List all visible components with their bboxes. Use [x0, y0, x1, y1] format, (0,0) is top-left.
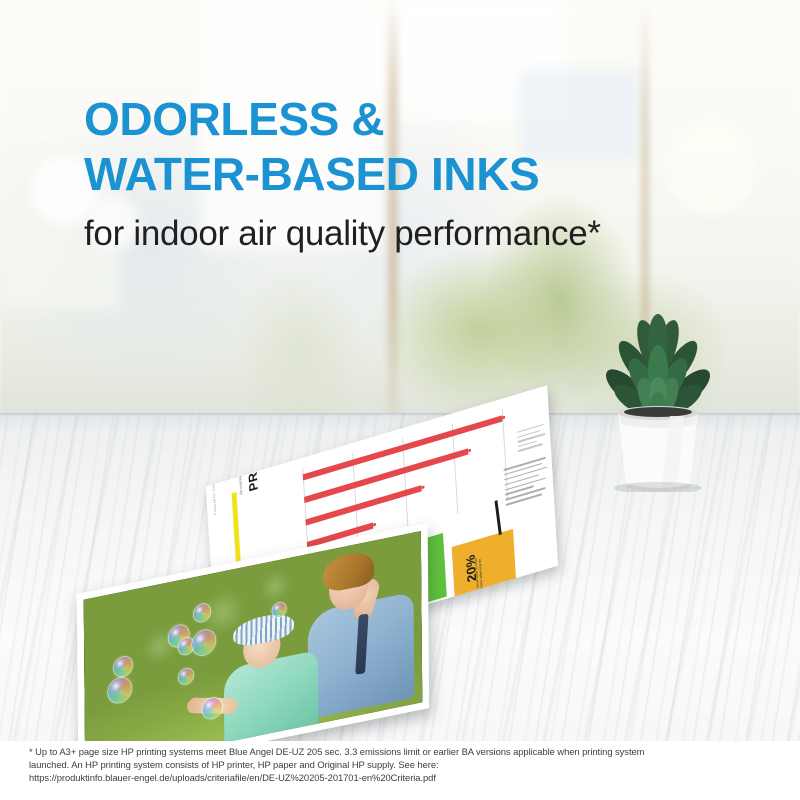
headline-block: ODORLESS & WATER-BASED INKS	[84, 92, 744, 202]
headline-line-2: WATER-BASED INKS	[84, 147, 744, 202]
plant-pot	[618, 406, 698, 492]
brochure-rule	[495, 500, 502, 535]
footnote-line-3: https://produktinfo.blauer-engel.de/uplo…	[29, 771, 781, 784]
subheadline: for indoor air quality performance*	[84, 212, 601, 256]
footnote-line-1: * Up to A3+ page size HP printing system…	[29, 745, 781, 758]
headline-line-1: ODORLESS &	[84, 92, 744, 147]
potted-succulent-plant	[596, 312, 720, 492]
footnote-text: * Up to A3+ page size HP printing system…	[29, 745, 781, 785]
marketing-image: ODORLESS & WATER-BASED INKS for indoor a…	[0, 0, 800, 800]
footnote-line-2: launched. An HP printing system consists…	[29, 758, 781, 771]
soap-bubble	[179, 667, 194, 685]
footer-band: * Up to A3+ page size HP printing system…	[0, 741, 800, 800]
succulent-leaves	[600, 314, 716, 421]
brochure-body-copy-secondary	[517, 423, 547, 455]
plant-illustration	[596, 312, 720, 492]
soap-bubble	[108, 676, 132, 705]
soap-bubble	[114, 655, 133, 678]
soap-bubble	[192, 628, 216, 657]
background-mullion	[388, 0, 398, 418]
brochure-body-copy	[503, 456, 550, 509]
child-figure-shirt	[224, 650, 319, 745]
